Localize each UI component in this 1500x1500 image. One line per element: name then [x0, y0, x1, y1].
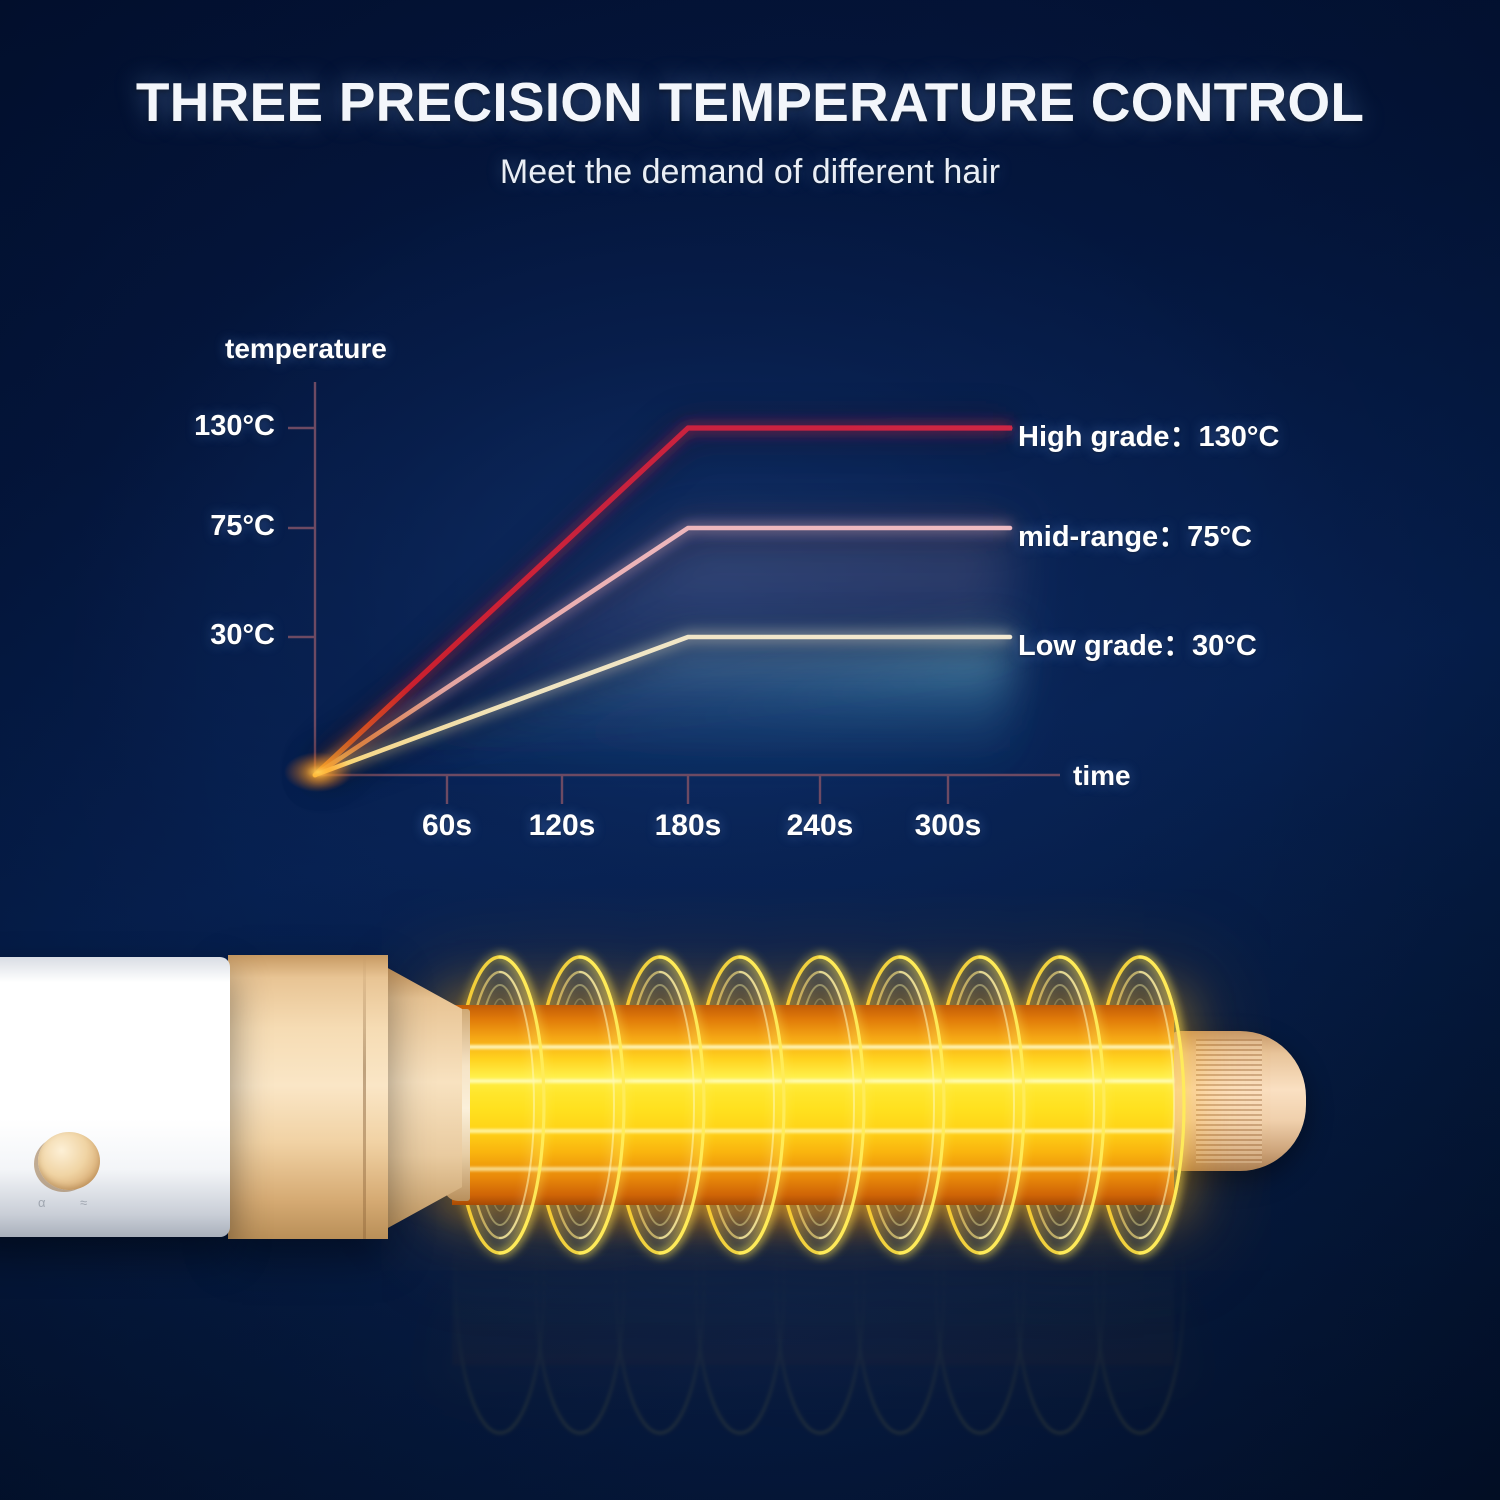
mode-mark-high: ≈ — [80, 1195, 87, 1211]
mode-indicator-marks: α ≈ — [36, 1195, 110, 1211]
legend-item-high-grade: High grade：130°C — [1018, 413, 1279, 455]
mode-mark-low: α — [38, 1195, 46, 1211]
promo-graphic: THREE PRECISION TEMPERATURE CONTROL Meet… — [0, 0, 1500, 1500]
page-subtitle: Meet the demand of different hair — [0, 153, 1500, 192]
x-tick-label-300s: 300s — [888, 809, 1008, 843]
x-tick-label-180s: 180s — [628, 809, 748, 843]
x-tick-label-240s: 240s — [760, 809, 880, 843]
handle-gold-band — [228, 955, 388, 1239]
legend-item-low-grade: Low grade：30°C — [1018, 622, 1257, 664]
product-image: α ≈ — [0, 905, 1500, 1500]
handle-body: α ≈ — [0, 957, 230, 1237]
handle-taper — [386, 967, 462, 1229]
page-title: THREE PRECISION TEMPERATURE CONTROL — [0, 74, 1500, 131]
y-tick-label-30: 30°C — [120, 619, 275, 652]
x-tick-label-60s: 60s — [387, 809, 507, 843]
x-axis-title: time — [1073, 760, 1131, 792]
header: THREE PRECISION TEMPERATURE CONTROL Meet… — [0, 74, 1500, 192]
power-button[interactable] — [38, 1132, 100, 1190]
x-tick-label-120s: 120s — [502, 809, 622, 843]
y-axis-title: temperature — [225, 333, 387, 365]
y-tick-label-75: 75°C — [120, 510, 275, 543]
legend-item-mid-range: mid-range：75°C — [1018, 513, 1252, 555]
origin-glow — [284, 752, 352, 792]
y-tick-label-130: 130°C — [120, 410, 275, 443]
